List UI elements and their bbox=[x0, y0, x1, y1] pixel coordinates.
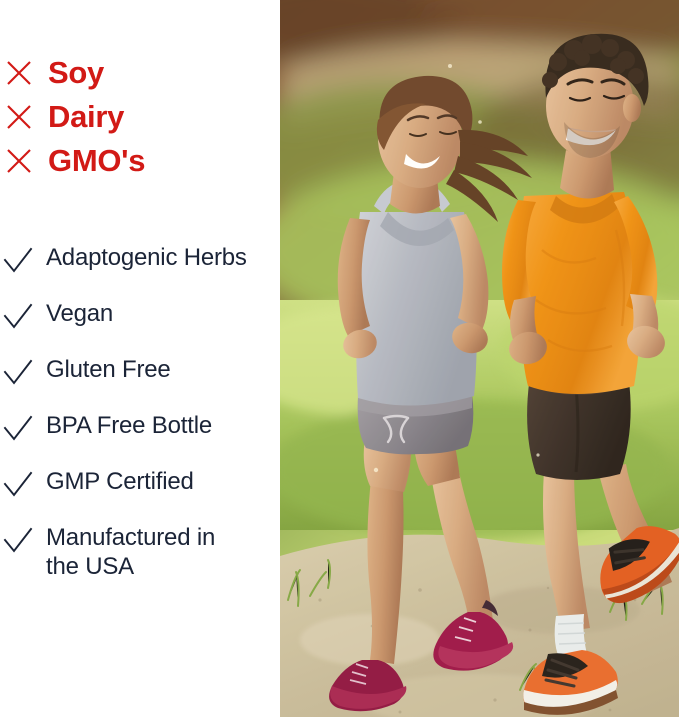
x-mark-icon bbox=[4, 101, 34, 131]
inclusion-item-label: GMP Certified bbox=[46, 467, 194, 496]
two-runners-on-trail-photo bbox=[280, 0, 679, 717]
exclusion-list: Soy Dairy GMO's bbox=[0, 50, 280, 182]
x-mark-icon bbox=[4, 145, 34, 175]
inclusion-item-gmp-certified: GMP Certified bbox=[0, 467, 280, 501]
check-mark-icon bbox=[2, 303, 34, 333]
exclusion-item-gmos: GMO's bbox=[0, 138, 280, 182]
inclusion-item-label: Manufactured in the USA bbox=[46, 523, 251, 582]
check-mark-icon bbox=[2, 527, 34, 557]
check-mark-icon bbox=[2, 247, 34, 277]
x-mark-icon bbox=[4, 57, 34, 87]
benefits-text-panel: Soy Dairy GMO's bbox=[0, 0, 280, 717]
exclusion-item-label: Dairy bbox=[48, 101, 124, 132]
check-mark-icon bbox=[2, 359, 34, 389]
inclusion-item-bpa-free-bottle: BPA Free Bottle bbox=[0, 411, 280, 445]
inclusion-item-label: BPA Free Bottle bbox=[46, 411, 212, 440]
inclusion-item-adaptogenic-herbs: Adaptogenic Herbs bbox=[0, 243, 280, 277]
exclusion-item-dairy: Dairy bbox=[0, 94, 280, 138]
check-mark-icon bbox=[2, 415, 34, 445]
exclusion-item-label: Soy bbox=[48, 57, 104, 88]
inclusion-item-label: Adaptogenic Herbs bbox=[46, 243, 247, 272]
inclusion-item-label: Gluten Free bbox=[46, 355, 171, 384]
inclusion-item-gluten-free: Gluten Free bbox=[0, 355, 280, 389]
inclusion-item-vegan: Vegan bbox=[0, 299, 280, 333]
product-benefits-panel: Soy Dairy GMO's bbox=[0, 0, 679, 717]
check-mark-icon bbox=[2, 471, 34, 501]
exclusion-item-soy: Soy bbox=[0, 50, 280, 94]
inclusion-item-label: Vegan bbox=[46, 299, 113, 328]
inclusion-item-manufactured-in-the-usa: Manufactured in the USA bbox=[0, 523, 280, 582]
exclusion-item-label: GMO's bbox=[48, 145, 145, 176]
inclusion-list: Adaptogenic Herbs Vegan Gluten Free bbox=[0, 243, 280, 604]
